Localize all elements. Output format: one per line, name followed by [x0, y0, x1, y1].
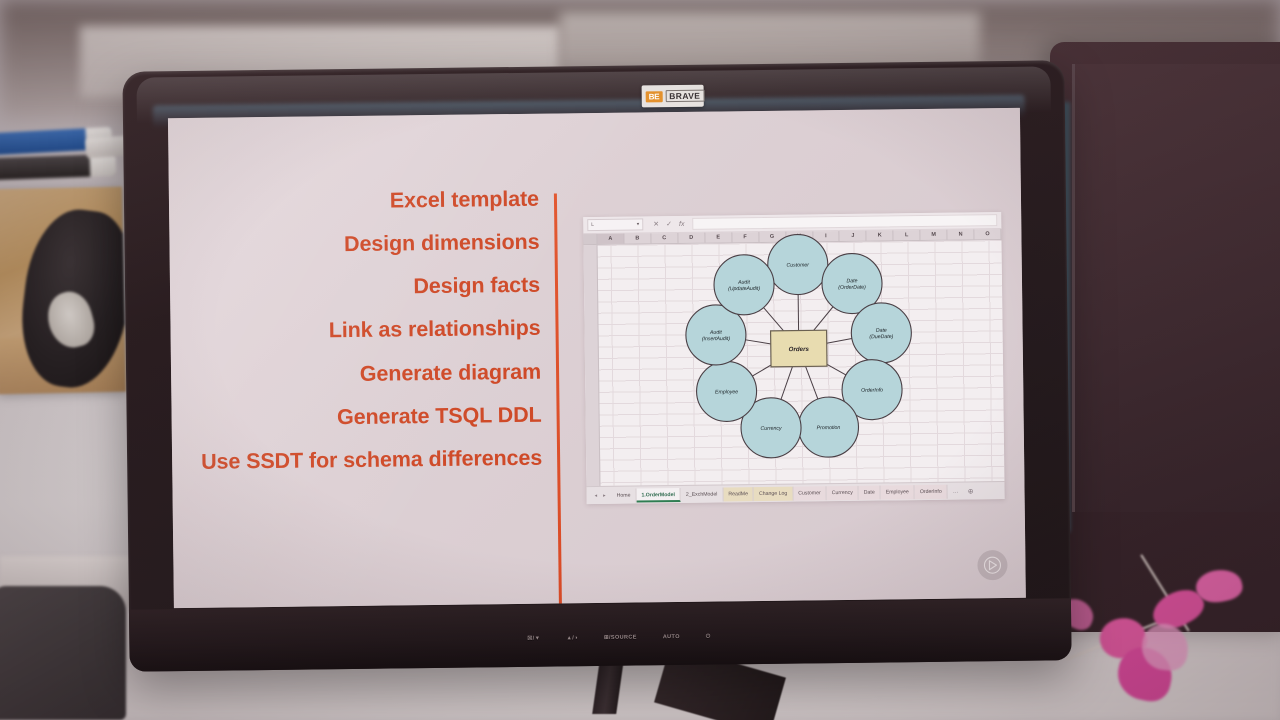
osd-button-auto[interactable]: AUTO: [663, 634, 680, 641]
office-scene: BE BRAVE Excel template Design dimension…: [0, 0, 1280, 720]
be-brave-sticker: BE BRAVE: [642, 85, 704, 108]
sheet-tab-date[interactable]: Date: [859, 485, 881, 499]
diagram-node-label: Employee: [715, 389, 738, 395]
orders-relationship-diagram: OrdersCustomerDate(OrderDate)Date(DueDat…: [583, 212, 1004, 486]
sheet-tabs: Home1.OrderModel2_ExchModelReadMeChange …: [612, 484, 948, 502]
sheet-tab-readme[interactable]: ReadMe: [723, 487, 754, 501]
bullet-item-7: Use SSDT for schema differences: [192, 447, 542, 473]
diagram-node-label: Customer: [787, 262, 810, 268]
add-sheet-button[interactable]: ⊕: [964, 487, 978, 495]
diagram-node-audit-updateaudit-[interactable]: Audit(UpdateAudit): [714, 254, 775, 315]
monitor-screen: Excel template Design dimensions Design …: [168, 108, 1026, 608]
sheet-tab-currency[interactable]: Currency: [827, 485, 859, 499]
dog-photo: [0, 187, 126, 395]
diagram-node-label: Currency: [760, 426, 782, 432]
sheet-tab-home[interactable]: Home: [612, 488, 637, 502]
diagram-node-label: (DueDate): [869, 334, 893, 340]
video-watermark-logo: [977, 550, 1007, 580]
bullet-item-3: Design facts: [190, 274, 540, 300]
sheet-tab-change-log[interactable]: Change Log: [754, 486, 793, 500]
sheet-tabs-overflow[interactable]: …: [948, 488, 964, 494]
diagram-node-label: Audit: [737, 280, 750, 286]
diagram-node-orders[interactable]: Orders: [771, 330, 827, 367]
sheet-tab-customer[interactable]: Customer: [793, 486, 827, 500]
diagram-node-label: Date: [846, 278, 857, 284]
sheet-nav-arrows[interactable]: ◂ ▸: [589, 492, 612, 498]
osd-button-source[interactable]: ⊞/SOURCE: [604, 635, 637, 642]
diagram-node-label: (OrderDate): [838, 285, 866, 291]
sheet-tab-1-ordermodel[interactable]: 1.OrderModel: [636, 487, 681, 502]
osd-button-power[interactable]: ⏻: [706, 634, 711, 641]
presentation-slide: Excel template Design dimensions Design …: [168, 108, 1026, 608]
osd-button-bright[interactable]: ▲/◑: [566, 635, 578, 642]
excel-window: L ▾ ✕ ✓ fx A B C: [583, 212, 1004, 504]
sheet-prev-icon[interactable]: ◂: [595, 493, 598, 499]
bullet-item-6: Generate TSQL DDL: [191, 403, 541, 429]
sheet-tab-orderinfo[interactable]: OrderInfo: [915, 484, 948, 498]
sheet-tab-bar: ◂ ▸ Home1.OrderModel2_ExchModelReadMeCha…: [586, 481, 1004, 504]
primary-monitor: BE BRAVE Excel template Design dimension…: [122, 60, 1071, 671]
diagram-node-label: OrderInfo: [861, 388, 883, 394]
secondary-monitor: [1050, 42, 1280, 632]
diagram-node-label: (UpdateAudit): [728, 286, 760, 292]
bullet-item-5: Generate diagram: [191, 360, 541, 386]
diagram-node-date-duedate-[interactable]: Date(DueDate): [851, 303, 912, 364]
slide-bullet-list: Excel template Design dimensions Design …: [189, 188, 542, 473]
bullet-item-2: Design dimensions: [189, 231, 539, 257]
diagram-node-label: Promotion: [817, 425, 841, 431]
sheet-tab-employee[interactable]: Employee: [881, 485, 915, 499]
chair-back: [0, 586, 126, 720]
play-badge-icon: [983, 556, 1001, 574]
diagram-node-promotion[interactable]: Promotion: [798, 397, 859, 458]
diagram-node-customer[interactable]: Customer: [767, 234, 828, 295]
sheet-next-icon[interactable]: ▸: [603, 492, 606, 498]
slide-vertical-divider: [554, 193, 562, 608]
diagram-node-label: Orders: [789, 346, 810, 353]
whiteboard-marker-black: [0, 154, 116, 180]
sticker-label: BRAVE: [665, 90, 704, 102]
diagram-node-label: Audit: [709, 330, 722, 336]
sheet-tab-2-exchmodel[interactable]: 2_ExchModel: [681, 487, 724, 502]
bullet-item-1: Excel template: [189, 188, 539, 214]
diagram-node-label: Date: [876, 328, 887, 334]
diagram-node-employee[interactable]: Employee: [696, 361, 757, 422]
osd-button-menu[interactable]: ☒/▼: [527, 636, 540, 643]
bullet-item-4: Link as relationships: [190, 317, 540, 343]
sticker-badge: BE: [646, 91, 663, 102]
diagram-node-label: (InsertAudit): [702, 336, 731, 342]
